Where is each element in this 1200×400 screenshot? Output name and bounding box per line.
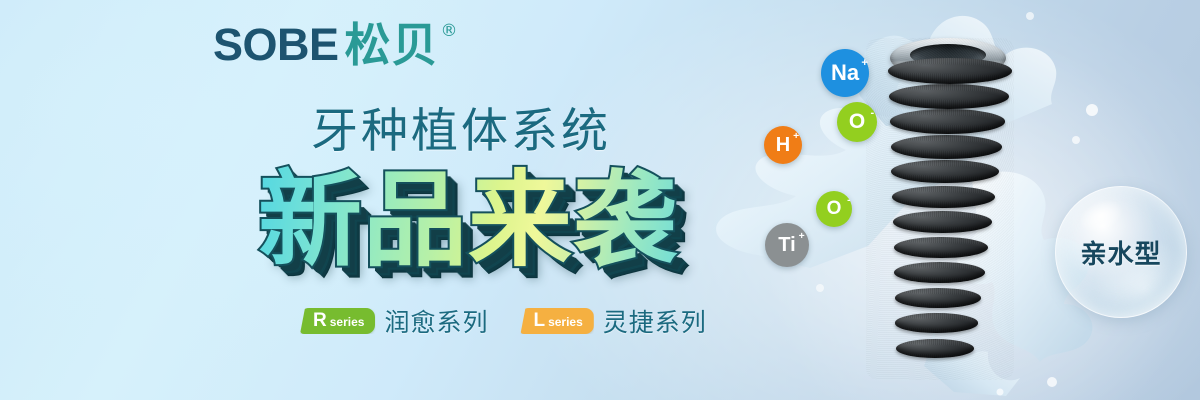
series-tag-letter: L (533, 311, 545, 330)
ion-bubble-na-0: Na+ (821, 49, 869, 97)
implant-thread (896, 339, 974, 358)
droplet-label: 亲水型 (1080, 234, 1161, 271)
registered-trademark-icon: ® (441, 23, 458, 40)
series-item[interactable]: Rseries润愈系列 (300, 303, 488, 339)
series-tag-badge: Lseries (520, 308, 593, 334)
series-tag-badge: Rseries (300, 308, 375, 334)
dental-implant-image (866, 38, 1014, 380)
product-series-list: Rseries润愈系列Lseries灵捷系列 (300, 303, 707, 339)
brand-logo-latin: SOBE (213, 22, 339, 68)
implant-thread (892, 186, 995, 209)
ion-symbol: H+ (776, 134, 790, 157)
ion-symbol: Na+ (831, 60, 859, 86)
ion-charge: + (799, 232, 805, 242)
series-item[interactable]: Lseries灵捷系列 (520, 303, 706, 339)
ion-charge: + (793, 132, 799, 142)
series-tag-letter: R (313, 311, 327, 330)
ion-symbol: Ti+ (778, 234, 795, 257)
series-tag-word: series (548, 316, 583, 328)
ion-bubble-h-2: H+ (764, 126, 802, 164)
ion-symbol: O- (827, 198, 842, 220)
implant-thread (894, 237, 989, 259)
ion-charge: - (871, 108, 875, 119)
ion-bubble-ti-4: Ti+ (765, 223, 809, 267)
series-tag-word: series (330, 316, 365, 328)
banner-headline: 新品来袭 新品来袭 新品来袭 (258, 166, 678, 278)
implant-thread (889, 84, 1009, 109)
implant-thread (894, 262, 985, 283)
implant-thread (893, 211, 992, 233)
promo-banner: Na+O-H+O-Ti+ 亲水型 SOBE 松贝 ® 牙种植体系统 新品来袭 新… (0, 0, 1200, 400)
implant-thread (895, 288, 981, 308)
implant-thread (891, 160, 998, 183)
implant-thread (890, 109, 1006, 134)
series-label: 灵捷系列 (603, 303, 707, 339)
implant-thread (891, 135, 1002, 159)
series-label: 润愈系列 (384, 303, 488, 339)
hydrophilic-droplet-badge: 亲水型 (1055, 186, 1187, 318)
headline-face-layer: 新品来袭 (258, 166, 678, 274)
ion-symbol: O- (849, 110, 865, 134)
implant-thread (888, 58, 1012, 84)
ion-charge: + (861, 58, 868, 69)
implant-thread (895, 313, 977, 333)
ion-charge: - (847, 196, 850, 206)
brand-logo-chinese: 松贝 (345, 22, 439, 68)
ion-bubble-o-1: O- (837, 102, 877, 142)
banner-subtitle: 牙种植体系统 (311, 104, 611, 160)
ion-bubble-o-3: O- (816, 191, 852, 227)
droplet-highlight (1074, 193, 1128, 239)
brand-logo[interactable]: SOBE 松贝 ® (213, 22, 458, 68)
